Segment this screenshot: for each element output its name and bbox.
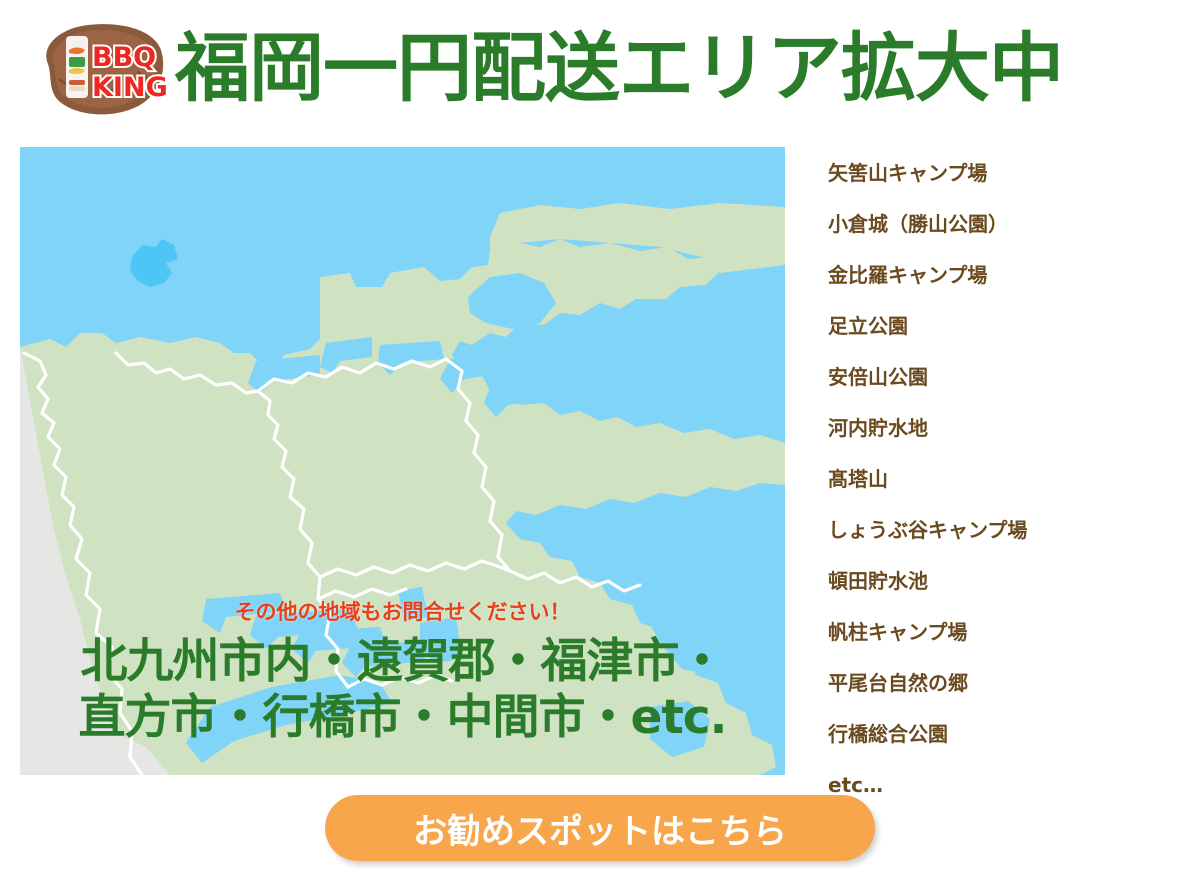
list-item: 足立公園 <box>828 301 1168 352</box>
map-caption-green-line2: 直方市・行橋市・中間市・etc. <box>20 690 785 746</box>
banner-title: 福岡一円配送エリア拡大中 <box>175 18 1063 118</box>
list-item: 行橋総合公園 <box>828 709 1168 760</box>
list-item: 安倍山公園 <box>828 352 1168 403</box>
list-item: 帆柱キャンプ場 <box>828 607 1168 658</box>
banner-header: BBQ KING 福岡一円配送エリア拡大中 <box>0 0 1200 140</box>
map-caption-red: その他の地域もお問合せください！ <box>20 596 785 626</box>
recommended-spots-button[interactable]: お勧めスポットはこちら <box>325 795 875 861</box>
list-item: 小倉城（勝山公園） <box>828 199 1168 250</box>
list-item: 髙塔山 <box>828 454 1168 505</box>
logo-text-king: KING <box>92 72 168 103</box>
list-item: 河内貯水地 <box>828 403 1168 454</box>
list-item: 平尾台自然の郷 <box>828 658 1168 709</box>
list-item: 金比羅キャンプ場 <box>828 250 1168 301</box>
list-item: しょうぶ谷キャンプ場 <box>828 505 1168 556</box>
fukuoka-map: その他の地域もお問合せください！ 北九州市内・遠賀郡・福津市・ 直方市・行橋市・… <box>20 147 785 775</box>
bbq-king-logo: BBQ KING <box>30 18 170 118</box>
list-item: 矢筈山キャンプ場 <box>828 148 1168 199</box>
list-item: 頓田貯水池 <box>828 556 1168 607</box>
delivery-area-banner: BBQ KING 福岡一円配送エリア拡大中 <box>0 0 1200 883</box>
list-item: etc… <box>828 760 1168 811</box>
recommended-spots-button-label: お勧めスポットはこちら <box>413 804 787 853</box>
map-caption-green-line1: 北九州市内・遠賀郡・福津市・ <box>20 634 785 690</box>
map-caption-green: 北九州市内・遠賀郡・福津市・ 直方市・行橋市・中間市・etc. <box>20 634 785 746</box>
logo-text-bbq: BBQ <box>92 42 156 73</box>
recommended-spot-list: 矢筈山キャンプ場 小倉城（勝山公園） 金比羅キャンプ場 足立公園 安倍山公園 河… <box>828 148 1168 811</box>
